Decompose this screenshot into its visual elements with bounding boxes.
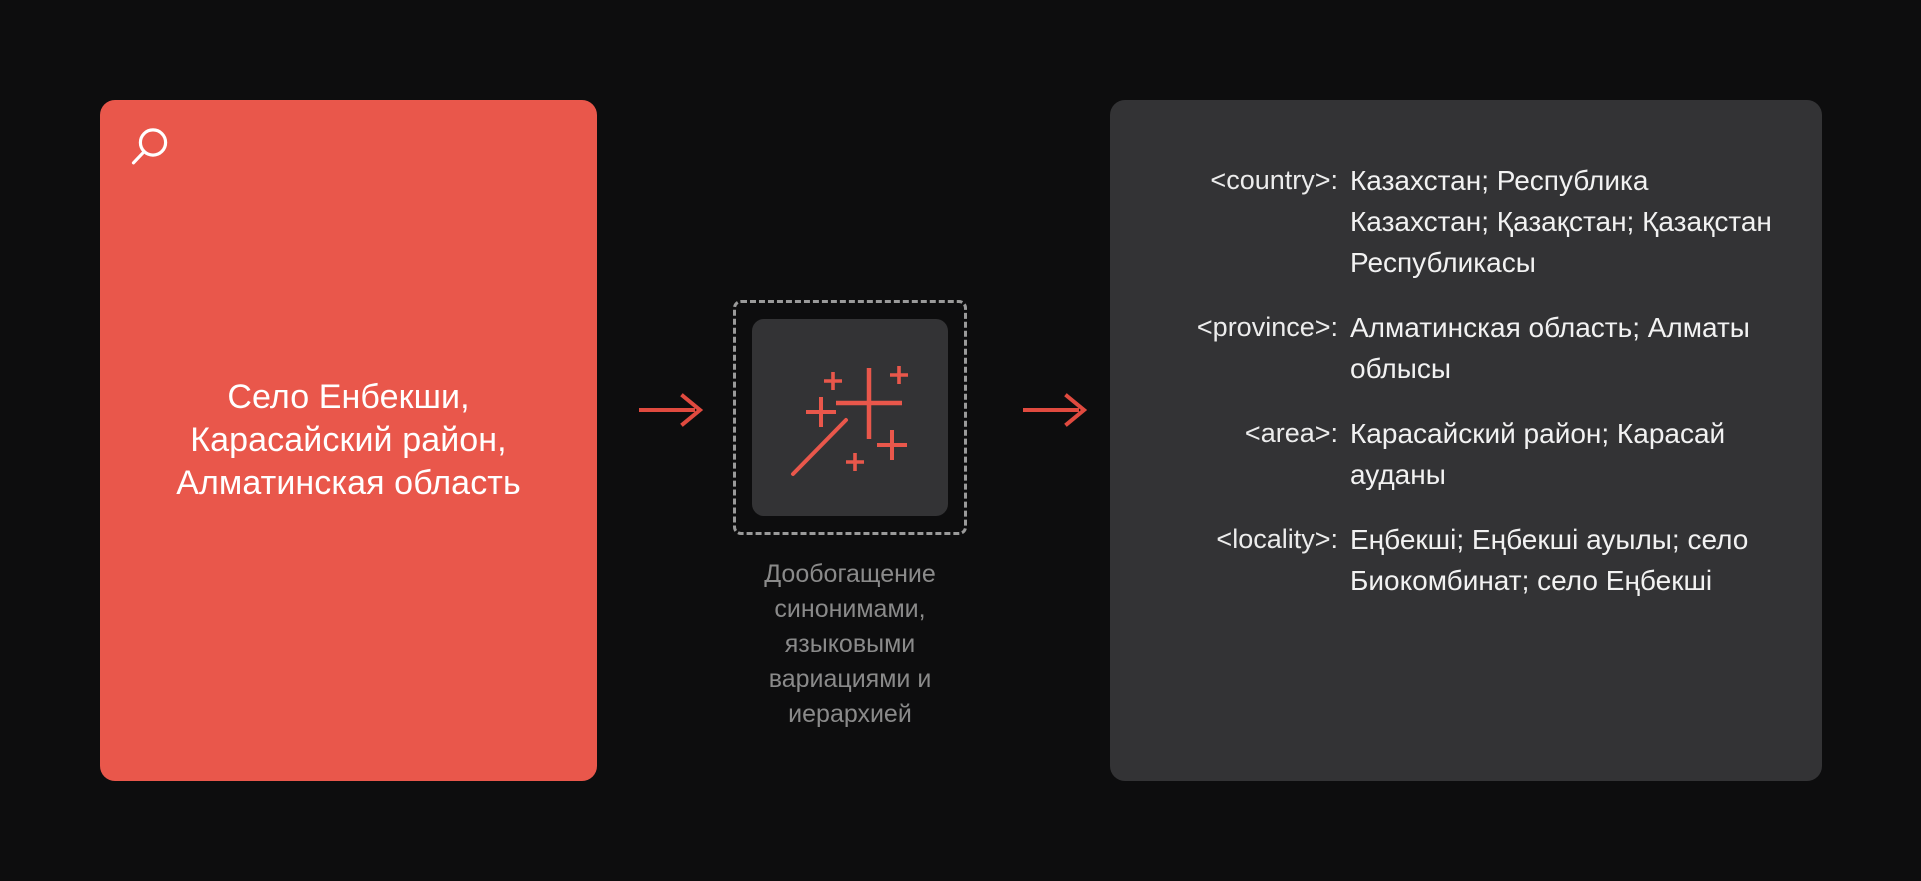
arrow-right-icon-1 — [638, 393, 708, 427]
output-field-label: <locality>: — [1110, 519, 1350, 560]
output-field-value: Еңбекші; Еңбекші ауылы; село Биокомбинат… — [1350, 519, 1780, 601]
output-field-value: Казахстан; Республика Казахстан; Қазақст… — [1350, 160, 1780, 283]
output-field-row: <province>: Алматинская область; Алматы … — [1110, 307, 1780, 389]
output-field-label: <area>: — [1110, 413, 1350, 454]
enrichment-icon-tile — [752, 319, 948, 516]
structured-output-panel: <country>: Казахстан; Республика Казахст… — [1110, 100, 1822, 781]
output-field-row: <locality>: Еңбекші; Еңбекші ауылы; село… — [1110, 519, 1780, 601]
diagram-canvas: Село Енбекши, Карасайский район, Алматин… — [0, 0, 1921, 881]
magic-wand-sparkles-icon — [775, 343, 925, 493]
arrow-right-icon-2 — [1022, 393, 1092, 427]
input-query-text-wrap: Село Енбекши, Карасайский район, Алматин… — [100, 100, 597, 781]
enrichment-caption: Дообогащение синонимами, языковыми вариа… — [725, 557, 975, 732]
enrichment-step: Дообогащение синонимами, языковыми вариа… — [733, 300, 967, 732]
output-field-row: <country>: Казахстан; Республика Казахст… — [1110, 160, 1780, 283]
output-field-value: Карасайский район; Карасай ауданы — [1350, 413, 1780, 495]
output-field-label: <province>: — [1110, 307, 1350, 348]
input-query-text: Село Енбекши, Карасайский район, Алматин… — [136, 376, 561, 505]
output-field-row: <area>: Карасайский район; Карасай аудан… — [1110, 413, 1780, 495]
output-field-value: Алматинская область; Алматы облысы — [1350, 307, 1780, 389]
enrichment-dashed-frame — [733, 300, 967, 535]
input-query-card: Село Енбекши, Карасайский район, Алматин… — [100, 100, 597, 781]
output-field-label: <country>: — [1110, 160, 1350, 201]
